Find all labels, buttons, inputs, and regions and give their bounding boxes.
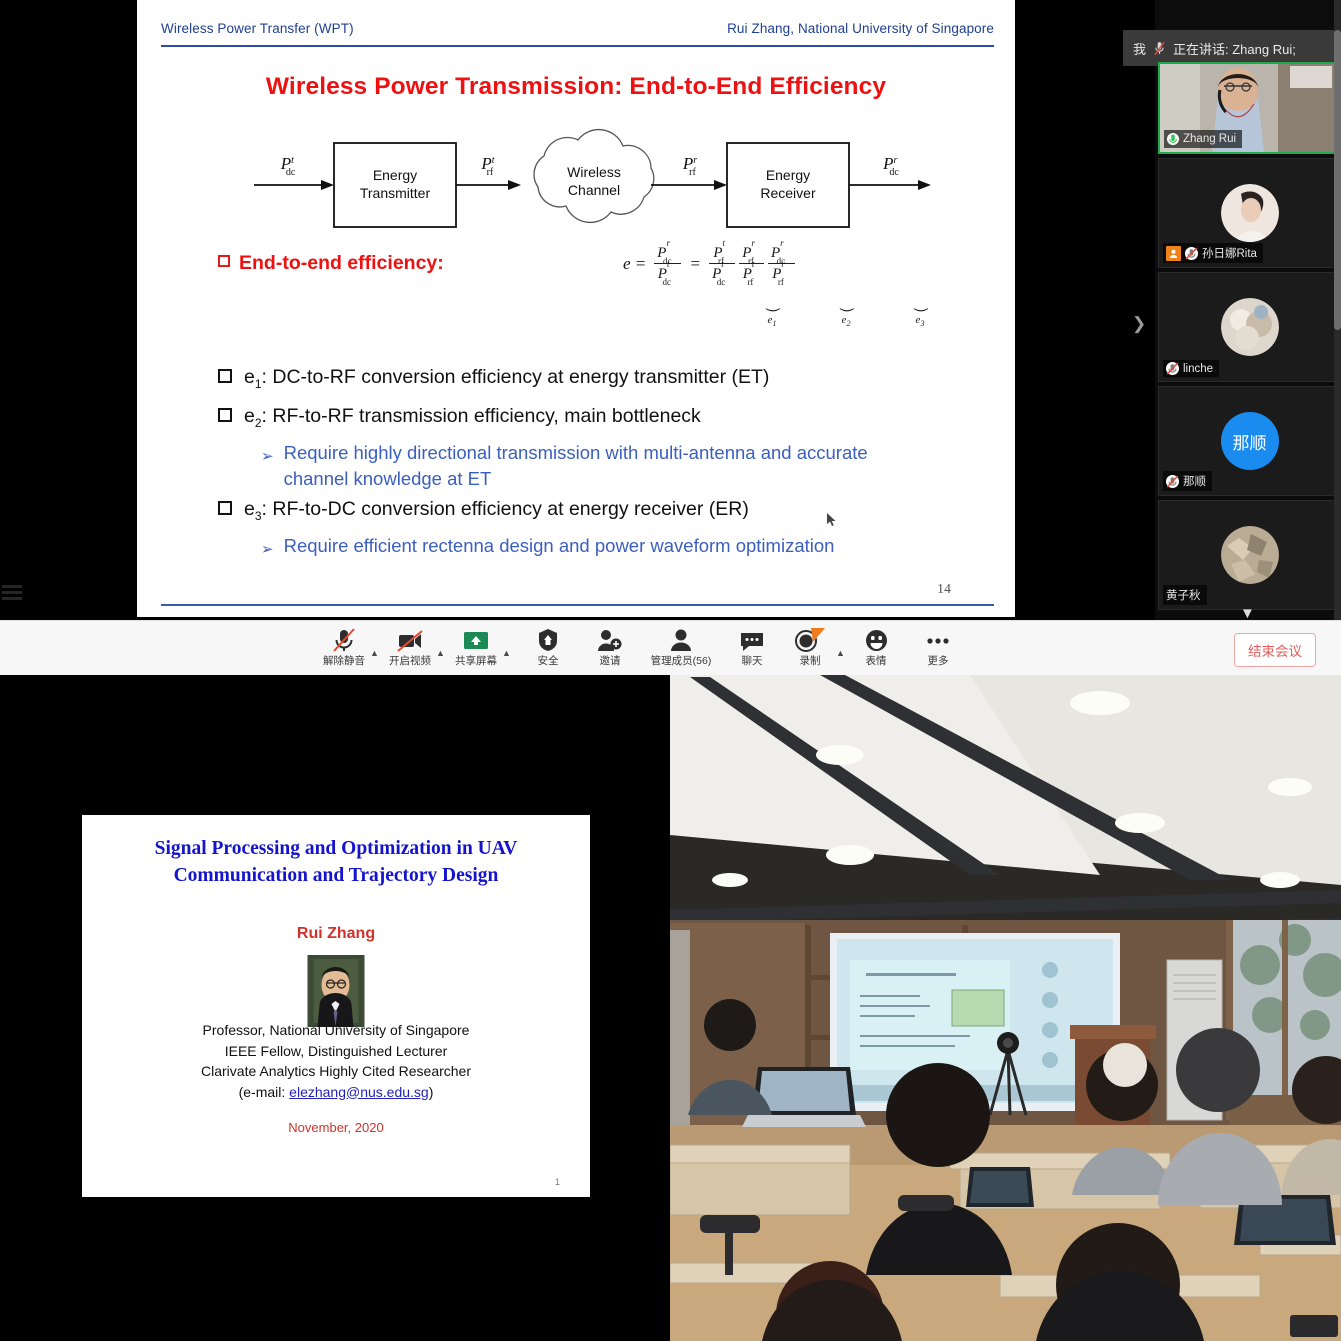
microphone-muted-icon: [1166, 475, 1179, 488]
title-slide-page-number: 1: [555, 1177, 560, 1187]
zoom-meeting-window: Wireless Power Transfer (WPT) Rui Zhang,…: [0, 0, 1341, 675]
avatar: [1221, 184, 1279, 242]
screen-root: Wireless Power Transfer (WPT) Rui Zhang,…: [0, 0, 1341, 1341]
avatar-initials: 那顺: [1233, 429, 1267, 454]
slide-footer-rule: [161, 604, 994, 606]
square-bullet-icon: [218, 408, 232, 422]
sub-bullet-text: Require highly directional transmission …: [284, 440, 934, 492]
toolbar-button-more[interactable]: 更多: [912, 623, 964, 668]
camera-muted-icon: [397, 627, 423, 652]
toolbar-button-chat[interactable]: 聊天: [726, 623, 778, 668]
me-label: 我: [1133, 39, 1146, 58]
emoji-smile-icon: [865, 627, 888, 652]
bullet-list: e1: DC-to-RF conversion efficiency at en…: [218, 362, 1008, 561]
lecture-hall-photo: [670, 675, 1341, 1341]
toolbar-button-security[interactable]: 安全: [522, 623, 574, 668]
participant-name-badge: linche: [1163, 360, 1219, 377]
participant-panel-scrollbar[interactable]: [1334, 0, 1341, 625]
toolbar-label: 开启视频: [389, 653, 431, 668]
toolbar-button-share-screen[interactable]: 共享屏幕: [450, 623, 502, 668]
share-screen-icon: [463, 627, 489, 652]
avatar: [1221, 298, 1279, 356]
toolbar-button-manage-participants[interactable]: 管理成员(56): [644, 623, 718, 668]
participant-name-badge: 黄子秋: [1163, 585, 1207, 605]
slide-header: Wireless Power Transfer (WPT) Rui Zhang,…: [161, 21, 994, 47]
microphone-muted-icon: [1154, 41, 1165, 56]
meeting-toolbar: 解除静音 ▲ 开启视频 ▲: [0, 620, 1341, 675]
microphone-muted-icon: [1185, 247, 1198, 260]
svg-text:Ptrf: Ptrf: [480, 154, 494, 178]
bottom-section: Signal Processing and Optimization in UA…: [0, 675, 1341, 1341]
share-options-caret-icon[interactable]: ▲: [502, 634, 516, 658]
speaker-portrait: [308, 955, 365, 1027]
microphone-icon: [1167, 132, 1179, 146]
toolbar-label: 更多: [928, 653, 949, 668]
chevron-right-icon[interactable]: ❯: [1132, 314, 1146, 334]
microphone-muted-icon: [333, 627, 355, 652]
toolbar-label: 聊天: [742, 653, 763, 668]
invite-person-icon: [597, 627, 623, 652]
avatar: 那顺: [1221, 412, 1279, 470]
participant-tile-linche[interactable]: linche: [1158, 272, 1341, 382]
toolbar-label: 录制: [800, 653, 821, 668]
equation-row: End-to-end efficiency: e = PrdcPtdc = Pt…: [218, 247, 1008, 347]
svg-text:Transmitter: Transmitter: [360, 185, 431, 201]
slide-header-left: Wireless Power Transfer (WPT): [161, 21, 354, 36]
more-dots-icon: [925, 627, 951, 652]
shared-screen-slide[interactable]: Wireless Power Transfer (WPT) Rui Zhang,…: [137, 0, 1015, 617]
toolbar-label: 表情: [866, 653, 887, 668]
end-meeting-button[interactable]: 结束会议: [1234, 633, 1316, 667]
participant-tile-nashun[interactable]: 那顺 那顺: [1158, 386, 1341, 496]
toolbar-label: 安全: [538, 653, 559, 668]
block-diagram: EnergyTransmitter WirelessChannel Energy…: [246, 125, 946, 235]
bullet-text: e3: RF-to-DC conversion efficiency at en…: [244, 494, 749, 531]
bullet-text: e2: RF-to-RF transmission efficiency, ma…: [244, 401, 701, 438]
toolbar-label: 共享屏幕: [455, 653, 497, 668]
slide-canvas: Wireless Power Transfer (WPT) Rui Zhang,…: [146, 7, 1006, 612]
toolbar-button-reactions[interactable]: 表情: [850, 623, 902, 668]
view-options-icon[interactable]: [2, 585, 22, 601]
participant-tile-sun-rina[interactable]: 孙日娜Rita: [1158, 158, 1341, 268]
title-slide[interactable]: Signal Processing and Optimization in UA…: [82, 815, 590, 1197]
toolbar-items: 解除静音 ▲ 开启视频 ▲: [318, 623, 964, 668]
slide-header-right: Rui Zhang, National University of Singap…: [727, 21, 994, 36]
shield-icon: [538, 627, 558, 652]
mic-options-caret-icon[interactable]: ▲: [370, 634, 384, 658]
square-bullet-icon: [218, 255, 230, 267]
participant-name-badge: 那顺: [1163, 471, 1212, 491]
arrow-bullet-icon: ➢: [261, 447, 274, 465]
toolbar-button-start-video[interactable]: 开启视频: [384, 623, 436, 668]
toolbar-label: 邀请: [600, 653, 621, 668]
svg-text:Channel: Channel: [568, 182, 620, 198]
list-item: e1: DC-to-RF conversion efficiency at en…: [218, 362, 1008, 399]
host-icon: [1166, 246, 1181, 261]
slide-title: Wireless Power Transmission: End-to-End …: [146, 73, 1006, 101]
video-options-caret-icon[interactable]: ▲: [436, 634, 450, 658]
chat-bubble-icon: [740, 627, 764, 652]
slide-header-rule: [161, 45, 994, 47]
equation-label-wrapper: End-to-end efficiency:: [218, 252, 444, 275]
svg-text:Prrf: Prrf: [682, 154, 697, 178]
email-line: (e-mail: elezhang@nus.edu.sg): [82, 1082, 590, 1103]
sub-list-item: ➢ Require efficient rectenna design and …: [261, 533, 1008, 559]
toolbar-button-unmute[interactable]: 解除静音: [318, 623, 370, 668]
email-link[interactable]: elezhang@nus.edu.sg: [289, 1084, 429, 1100]
participant-name-badge: Zhang Rui: [1164, 130, 1242, 148]
title-slide-author: Rui Zhang: [82, 925, 590, 943]
list-item: e3: RF-to-DC conversion efficiency at en…: [218, 494, 1008, 531]
svg-text:Wireless: Wireless: [567, 164, 621, 180]
participant-tile-zhang-rui[interactable]: Zhang Rui: [1158, 62, 1341, 154]
participant-name-badge: 孙日娜Rita: [1163, 243, 1263, 263]
speaking-status-bar: 我 正在讲话: Zhang Rui;: [1123, 30, 1341, 66]
svg-text:Energy: Energy: [766, 167, 810, 183]
participant-tile-huang-ziqiu[interactable]: 黄子秋: [1158, 500, 1341, 610]
bullet-text: e1: DC-to-RF conversion efficiency at en…: [244, 362, 769, 399]
toolbar-button-record[interactable]: 录制: [784, 623, 836, 668]
toolbar-label: 管理成员(56): [651, 653, 712, 668]
microphone-muted-icon: [1166, 362, 1179, 375]
title-slide-affiliation: Professor, National University of Singap…: [82, 1020, 590, 1102]
title-slide-date: November, 2020: [82, 1120, 590, 1135]
participants-icon: [670, 627, 692, 652]
efficiency-equation: e = PrdcPtdc = PtrfPtdc PrrfPtrf PrdcPrr…: [623, 243, 797, 284]
list-item: e2: RF-to-RF transmission efficiency, ma…: [218, 401, 1008, 438]
svg-text:Receiver: Receiver: [760, 185, 816, 201]
toolbar-label: 解除静音: [323, 653, 365, 668]
svg-text:Energy: Energy: [373, 167, 417, 183]
title-slide-heading: Signal Processing and Optimization in UA…: [82, 835, 590, 889]
sub-list-item: ➢ Require highly directional transmissio…: [261, 440, 1008, 492]
sub-bullet-text: Require efficient rectenna design and po…: [284, 533, 835, 559]
mouse-cursor-icon: [827, 513, 837, 527]
equation-label: End-to-end efficiency:: [239, 252, 444, 274]
svg-text:Ptdc: Ptdc: [280, 154, 296, 178]
toolbar-button-invite[interactable]: 邀请: [584, 623, 636, 668]
arrow-bullet-icon: ➢: [261, 540, 274, 558]
record-icon: [794, 627, 826, 652]
avatar: [1221, 526, 1279, 584]
equation-braces: ⏝e1 ⏝e2 ⏝e3: [738, 299, 968, 328]
record-options-caret-icon[interactable]: ▲: [836, 634, 850, 658]
square-bullet-icon: [218, 369, 232, 383]
slide-page-number: 14: [937, 582, 951, 598]
svg-text:Prdc: Prdc: [882, 154, 899, 178]
active-speaker-label: 正在讲话: Zhang Rui;: [1173, 39, 1296, 58]
square-bullet-icon: [218, 501, 232, 515]
